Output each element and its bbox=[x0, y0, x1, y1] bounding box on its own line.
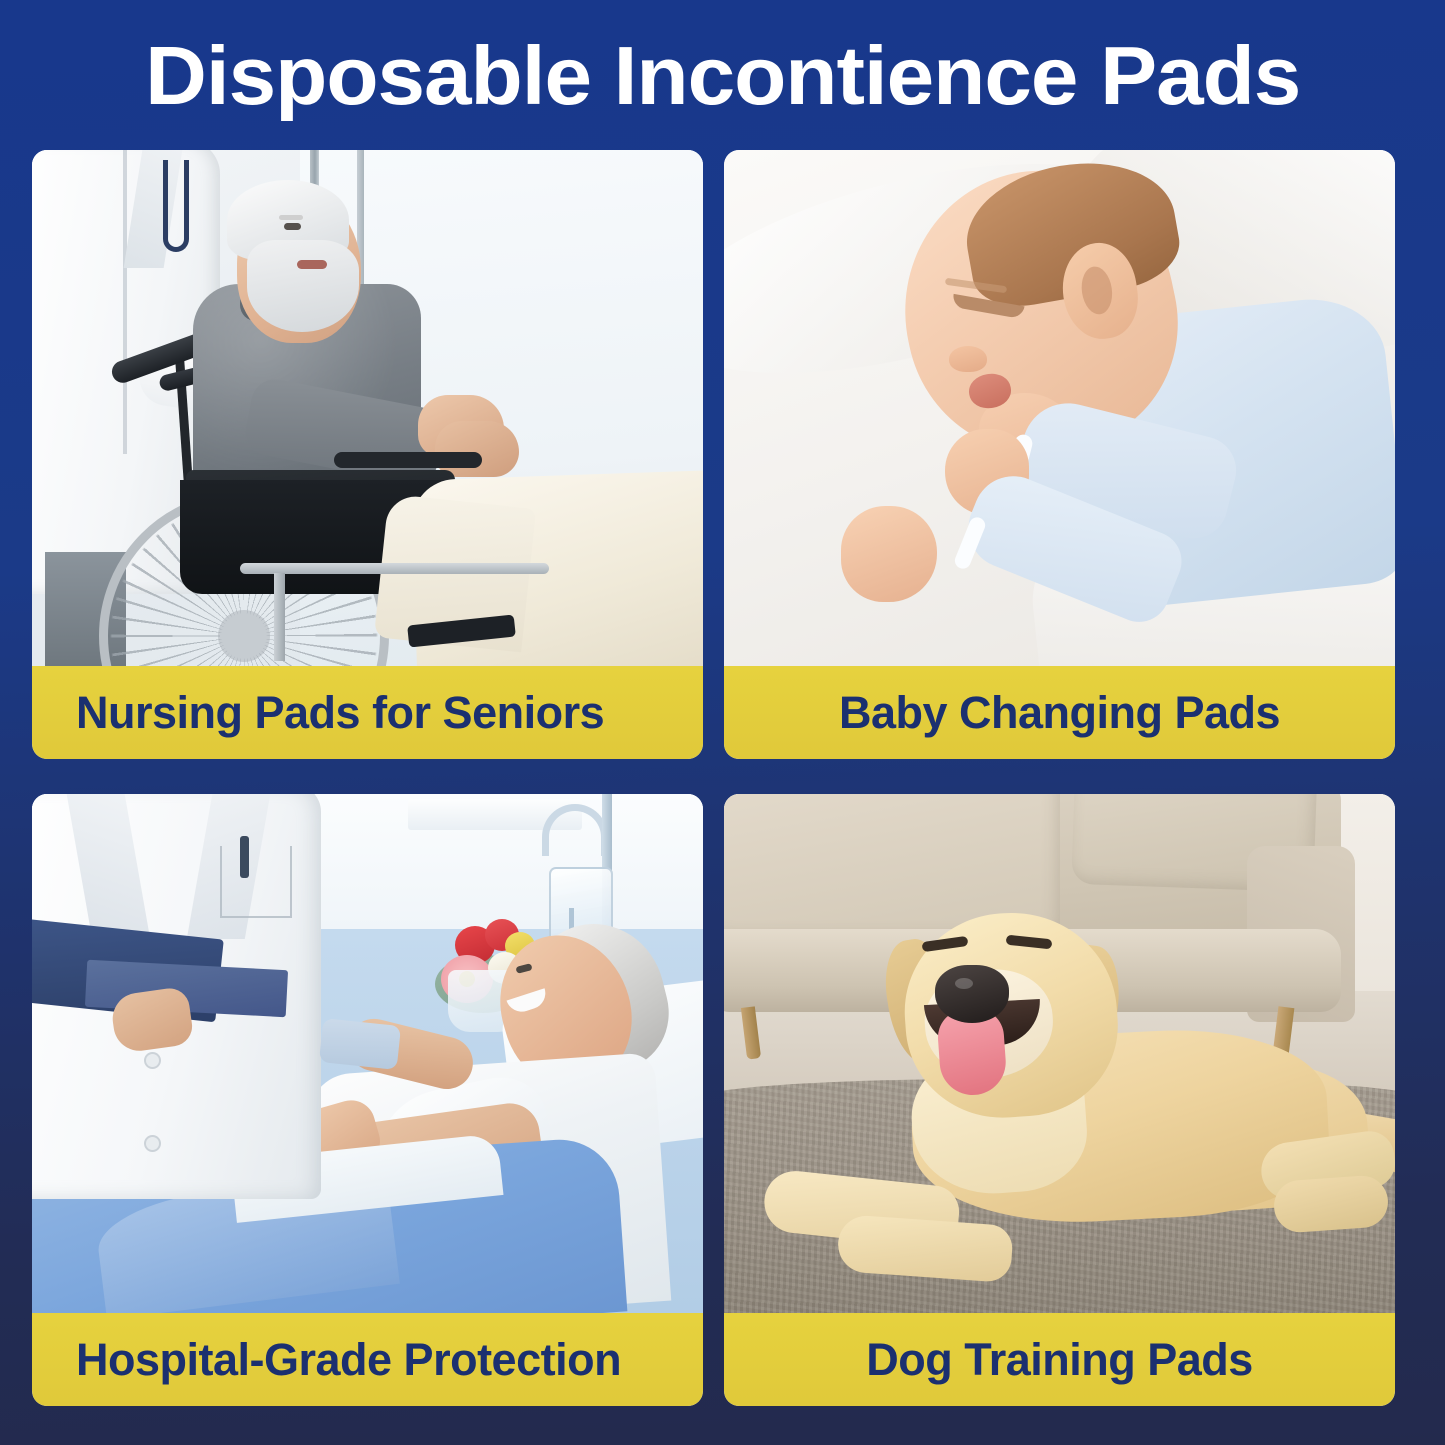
title-bar: Disposable Incontience Pads bbox=[0, 0, 1445, 150]
pen-icon bbox=[240, 836, 249, 878]
senior-beard bbox=[247, 240, 359, 332]
card-caption-bar: Baby Changing Pads bbox=[724, 666, 1395, 759]
use-case-card-hospital-grade[interactable]: Hospital-Grade Protection bbox=[32, 794, 703, 1406]
dog-hind-paw-secondary bbox=[1273, 1174, 1390, 1234]
wheelchair-armrest bbox=[334, 452, 482, 468]
doctor-coat-pocket bbox=[220, 846, 292, 918]
card-caption-text: Baby Changing Pads bbox=[839, 687, 1280, 739]
page-title: Disposable Incontience Pads bbox=[145, 34, 1300, 117]
wheelchair-frame-rail bbox=[240, 563, 549, 574]
card-caption-text: Hospital-Grade Protection bbox=[76, 1334, 621, 1386]
golden-retriever-photo bbox=[724, 794, 1395, 1313]
senior-hand-lower bbox=[435, 421, 519, 477]
coat-button-3 bbox=[146, 1137, 159, 1150]
card-caption-bar: Nursing Pads for Seniors bbox=[32, 666, 703, 759]
card-caption-text: Nursing Pads for Seniors bbox=[76, 687, 604, 739]
card-caption-text: Dog Training Pads bbox=[866, 1334, 1253, 1386]
use-case-card-baby-changing-pads[interactable]: Baby Changing Pads bbox=[724, 150, 1395, 759]
baby-fist-lower bbox=[841, 506, 937, 602]
senior-in-wheelchair-with-caregiver-photo bbox=[32, 150, 703, 666]
senior-eye bbox=[284, 223, 301, 230]
card-caption-bar: Dog Training Pads bbox=[724, 1313, 1395, 1406]
stethoscope-icon bbox=[163, 160, 189, 252]
doctor-with-patient-photo bbox=[32, 794, 703, 1313]
wheelchair-frame-leg bbox=[274, 573, 285, 661]
senior-mouth bbox=[297, 260, 327, 269]
lab-coat-seam bbox=[123, 150, 127, 454]
doctor-cuff bbox=[318, 1018, 400, 1070]
baby-nose bbox=[949, 346, 987, 372]
card-caption-bar: Hospital-Grade Protection bbox=[32, 1313, 703, 1406]
product-use-case-grid: Nursing Pads for Seniors Baby Changing bbox=[0, 150, 1445, 1406]
senior-eyebrow bbox=[279, 215, 303, 220]
coat-button-2 bbox=[146, 1054, 159, 1067]
sleeping-baby-photo bbox=[724, 150, 1395, 666]
dog-front-paw-right bbox=[836, 1214, 1014, 1283]
use-case-card-dog-training-pads[interactable]: Dog Training Pads bbox=[724, 794, 1395, 1406]
use-case-card-nursing-pads[interactable]: Nursing Pads for Seniors bbox=[32, 150, 703, 759]
